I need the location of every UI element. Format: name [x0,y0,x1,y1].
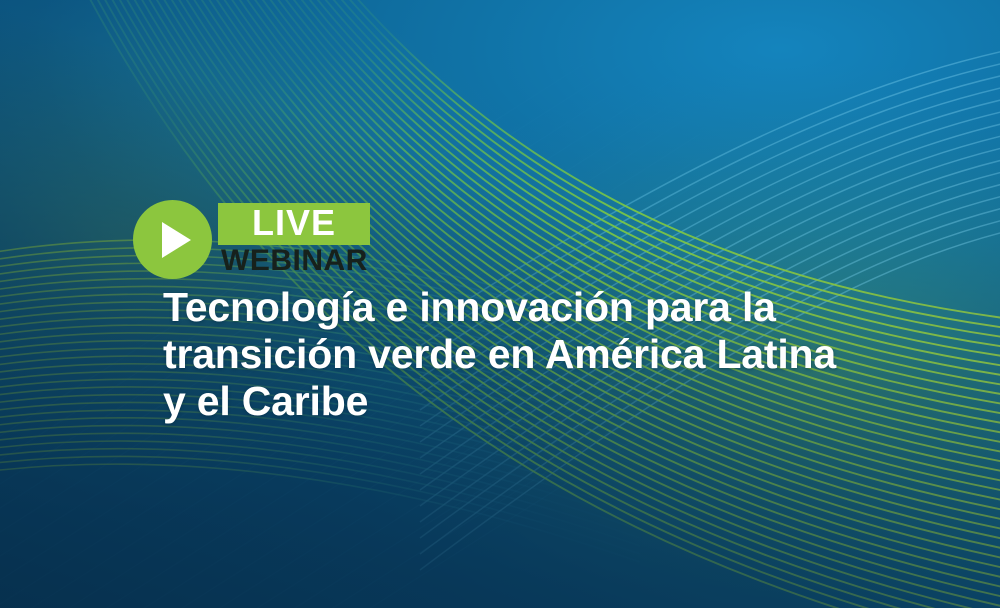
title-line-1: Tecnología e innovación para la [163,284,963,331]
title-line-2: transición verde en América Latina [163,331,963,378]
play-icon[interactable] [133,200,212,279]
webinar-banner: LIVE WEBINAR Tecnología e innovación par… [0,0,1000,608]
webinar-label: WEBINAR [221,244,368,278]
live-label: LIVE [218,203,370,245]
title-line-3: y el Caribe [163,378,963,425]
live-label-box: LIVE [218,203,370,245]
play-triangle-glyph [162,222,191,258]
banner-title: Tecnología e innovación para la transici… [163,284,963,425]
